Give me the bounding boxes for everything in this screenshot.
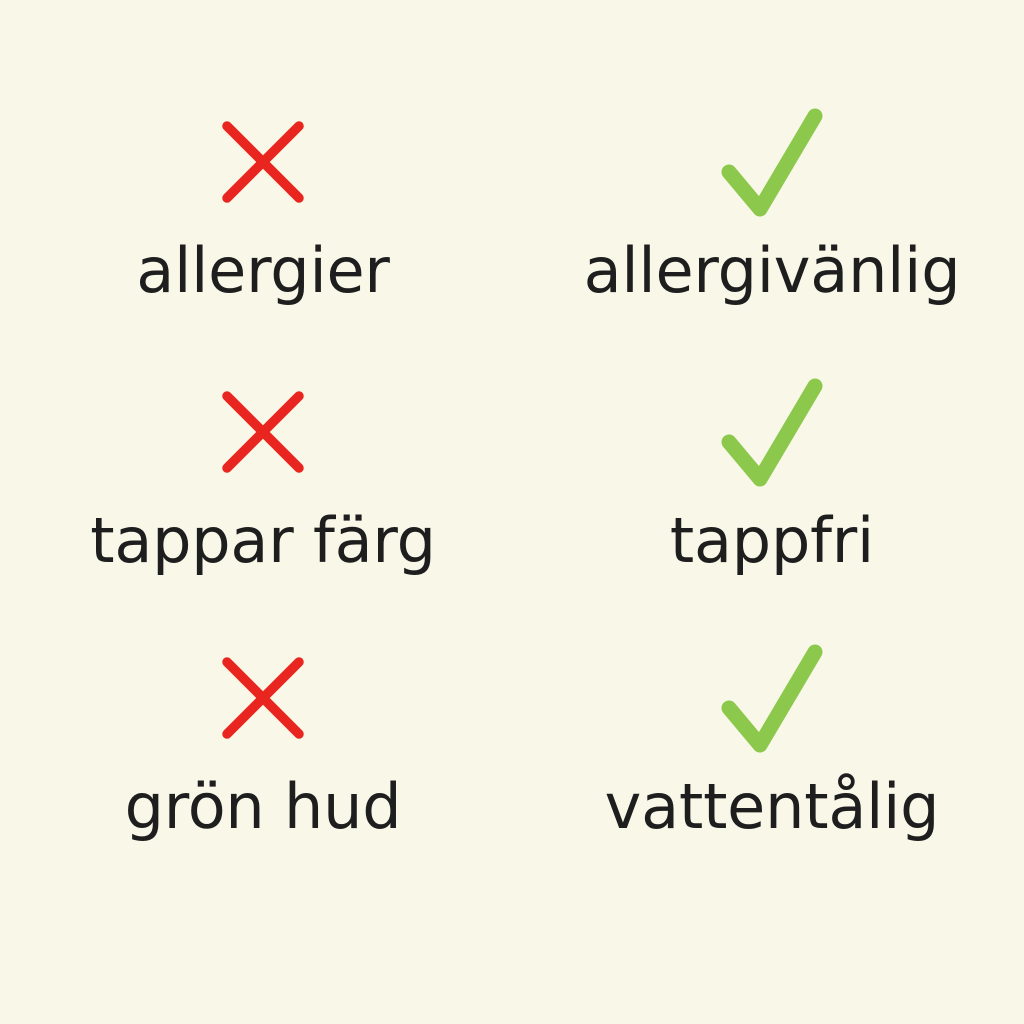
comparison-label-negative-1: allergier (136, 240, 389, 302)
comparison-grid: allergier allergivänlig tappar färg (0, 62, 1024, 872)
check-icon (712, 642, 832, 754)
comparison-label-positive-2: tappfri (670, 510, 874, 572)
comparison-label-negative-2: tappar färg (90, 510, 436, 572)
comparison-label-positive-3: vattentålig (605, 776, 940, 838)
check-icon (712, 376, 832, 488)
comparison-cell-negative-1: allergier (0, 62, 512, 332)
comparison-cell-positive-3: vattentålig (512, 602, 1024, 872)
comparison-graphic: allergier allergivänlig tappar färg (0, 0, 1024, 1024)
comparison-cell-negative-2: tappar färg (0, 332, 512, 602)
check-icon (712, 106, 832, 218)
comparison-cell-positive-1: allergivänlig (512, 62, 1024, 332)
cross-icon (203, 376, 323, 488)
cross-icon (203, 106, 323, 218)
comparison-cell-negative-3: grön hud (0, 602, 512, 872)
comparison-label-negative-3: grön hud (125, 776, 402, 838)
comparison-cell-positive-2: tappfri (512, 332, 1024, 602)
cross-icon (203, 642, 323, 754)
comparison-label-positive-1: allergivänlig (584, 240, 961, 302)
